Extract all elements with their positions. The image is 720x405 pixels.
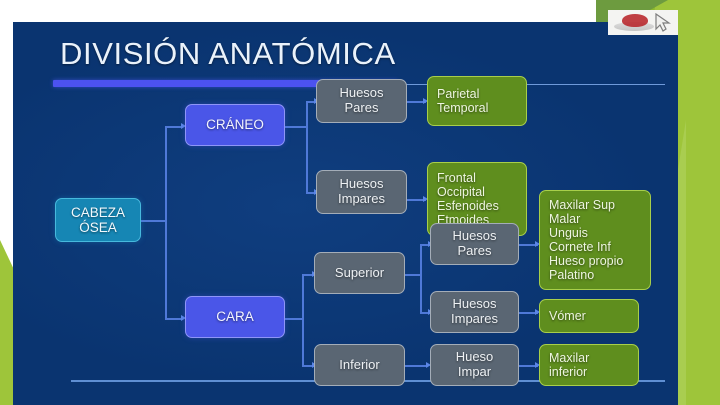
node-cara-inf-impar-bones[interactable]: Maxilar inferior	[539, 344, 639, 386]
slide-canvas: DIVISIÓN ANATÓMICA	[0, 0, 720, 405]
node-cabeza-osea[interactable]: CABEZA ÓSEA	[55, 198, 141, 242]
node-cara-sup-huesos-impares[interactable]: Huesos Impares	[430, 291, 519, 333]
connector-root-spine	[165, 126, 167, 318]
connector-craneo-out	[285, 126, 307, 128]
node-cara-superior[interactable]: Superior	[314, 252, 405, 294]
logo-red-shape	[622, 14, 648, 27]
node-cara-sup-pares-bones[interactable]: Maxilar Sup Malar Unguis Cornete Inf Hue…	[539, 190, 651, 290]
node-craneo-pares-bones[interactable]: Parietal Temporal	[427, 76, 527, 126]
node-cara-sup-impares-bones[interactable]: Vómer	[539, 299, 639, 333]
cursor-arrow-icon	[654, 13, 672, 32]
connector-superior-out	[404, 274, 421, 276]
node-cara[interactable]: CARA	[185, 296, 285, 338]
connector-cara-out	[285, 318, 303, 320]
connector-inferior-out	[404, 365, 428, 367]
watermark-logo	[608, 10, 678, 35]
connector-craneo-spine	[306, 101, 308, 193]
connector-superior-spine	[420, 244, 422, 313]
node-craneo-huesos-pares[interactable]: Huesos Pares	[316, 79, 407, 123]
node-cara-inferior[interactable]: Inferior	[314, 344, 405, 386]
connector-root-out	[140, 220, 166, 222]
slide-body: DIVISIÓN ANATÓMICA	[13, 22, 678, 405]
node-craneo-huesos-impares[interactable]: Huesos Impares	[316, 170, 407, 214]
node-craneo[interactable]: CRÁNEO	[185, 104, 285, 146]
node-cara-inf-hueso-impar[interactable]: Hueso Impar	[430, 344, 519, 386]
connector-cara-spine	[302, 274, 304, 366]
page-title: DIVISIÓN ANATÓMICA	[60, 36, 396, 72]
node-cara-sup-huesos-pares[interactable]: Huesos Pares	[430, 223, 519, 265]
